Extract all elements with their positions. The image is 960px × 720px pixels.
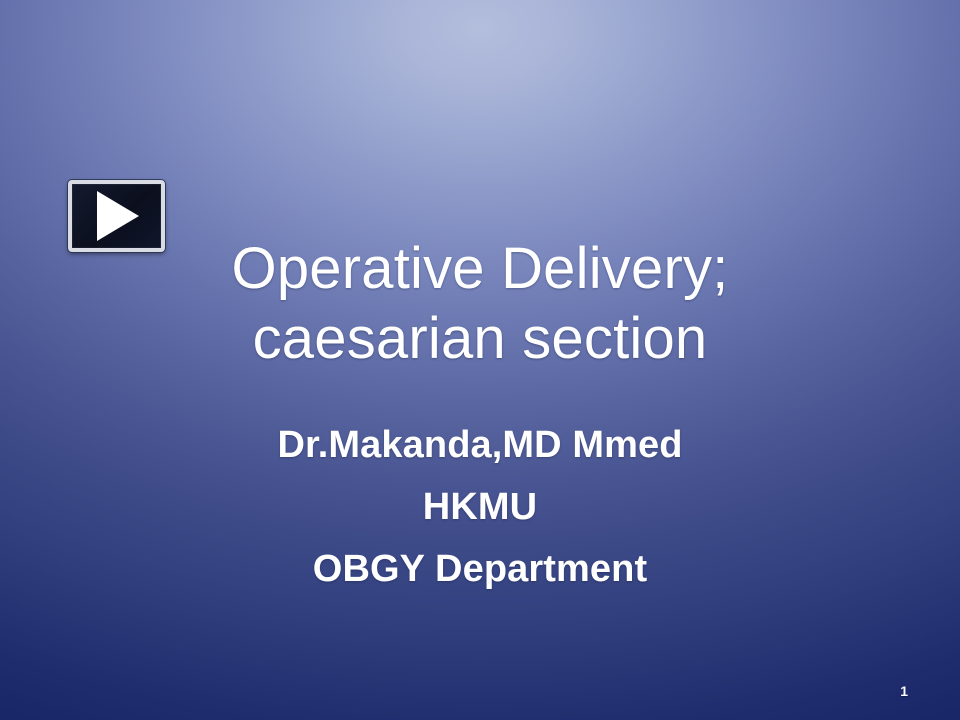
slide-title-line-2: caesarian section: [0, 304, 960, 374]
subtitle-line-department: OBGY Department: [0, 538, 960, 600]
subtitle-line-presenter: Dr.Makanda,MD Mmed: [0, 414, 960, 476]
slide-number: 1: [900, 683, 908, 699]
presentation-slide: Operative Delivery; caesarian section Dr…: [0, 0, 960, 720]
slide-title: Operative Delivery; caesarian section: [0, 234, 960, 374]
slide-subtitle: Dr.Makanda,MD Mmed HKMU OBGY Department: [0, 414, 960, 600]
subtitle-line-institution: HKMU: [0, 476, 960, 538]
slide-title-line-1: Operative Delivery;: [0, 234, 960, 304]
